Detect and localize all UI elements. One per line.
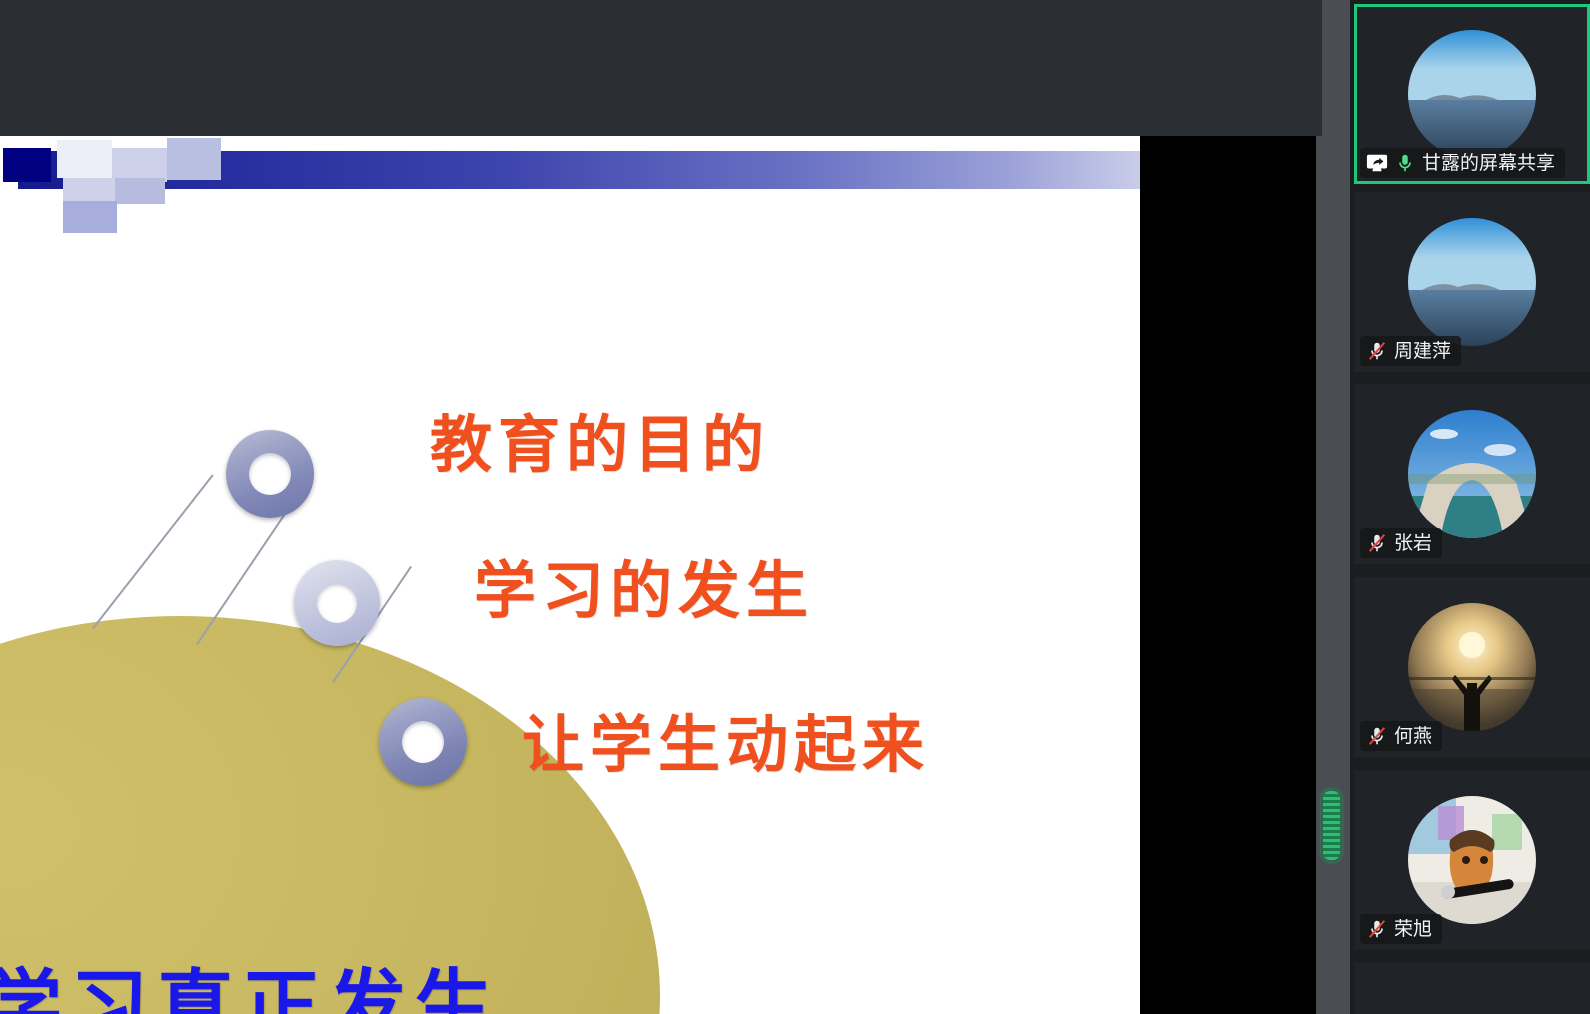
participant-tile[interactable]: 何燕	[1354, 577, 1590, 757]
participant-name-chip: 周建萍	[1360, 336, 1461, 366]
slide-deco-square	[63, 201, 117, 233]
participant-name-chip: 张岩	[1360, 528, 1442, 558]
slide-text-line-2: 学习的发生	[474, 560, 814, 622]
filmstrip-gutter-notch	[1316, 0, 1322, 136]
participant-name: 何燕	[1394, 727, 1432, 746]
participant-name-chip: 何燕	[1360, 721, 1442, 751]
participant-tile[interactable]: 甘露的屏幕共享	[1354, 4, 1590, 184]
slide-deco-square	[112, 148, 167, 182]
slide-deco-square	[115, 178, 165, 204]
screen-share-stage[interactable]: 教育的目的 学习的发生 让学生动起来 学习真正发生	[0, 136, 1350, 1014]
avatar	[1408, 410, 1536, 538]
participant-name-chip: 甘露的屏幕共享	[1360, 148, 1565, 178]
slide-deco-square	[57, 140, 112, 178]
connector-line	[92, 474, 214, 629]
avatar	[1408, 796, 1536, 924]
slide-banner-text: 学习真正发生	[0, 968, 500, 1014]
slide-deco-square	[167, 138, 221, 180]
microphone-muted-icon	[1366, 340, 1388, 362]
participant-tile-partial[interactable]	[1354, 962, 1590, 1014]
ring-top-icon	[226, 430, 314, 518]
avatar	[1408, 218, 1536, 346]
microphone-muted-icon	[1366, 725, 1388, 747]
avatar	[1408, 30, 1536, 158]
ring-bottom-icon	[379, 698, 467, 786]
avatar	[1408, 603, 1536, 731]
participant-filmstrip[interactable]: 甘露的屏幕共享 周建萍	[1350, 0, 1590, 1014]
ring-hole	[249, 453, 291, 495]
filmstrip-scrollbar[interactable]	[1321, 789, 1342, 862]
participant-name: 荣旭	[1394, 920, 1432, 939]
participant-tile[interactable]: 周建萍	[1354, 192, 1590, 372]
microphone-icon	[1394, 152, 1416, 174]
slide-text-line-3: 让学生动起来	[522, 714, 930, 776]
slide-text-line-1: 教育的目的	[430, 414, 770, 476]
shared-presentation-slide[interactable]: 教育的目的 学习的发生 让学生动起来 学习真正发生	[0, 136, 1140, 1014]
ring-middle-icon	[294, 560, 380, 646]
slide-deco-square	[3, 148, 51, 182]
participant-name: 甘露的屏幕共享	[1422, 154, 1555, 173]
slide-ellipse-shape	[0, 616, 660, 1014]
screen-share-icon	[1366, 152, 1388, 174]
ring-hole	[317, 583, 357, 623]
microphone-muted-icon	[1366, 532, 1388, 554]
participant-tile[interactable]: 荣旭	[1354, 770, 1590, 950]
participant-name: 周建萍	[1394, 342, 1451, 361]
participant-tile[interactable]: 张岩	[1354, 384, 1590, 564]
ring-hole	[402, 721, 444, 763]
microphone-muted-icon	[1366, 918, 1388, 940]
meeting-window: 教育的目的 学习的发生 让学生动起来 学习真正发生	[0, 0, 1590, 1014]
top-chrome-band	[0, 0, 1350, 136]
participant-name: 张岩	[1394, 534, 1432, 553]
participant-name-chip: 荣旭	[1360, 914, 1442, 944]
